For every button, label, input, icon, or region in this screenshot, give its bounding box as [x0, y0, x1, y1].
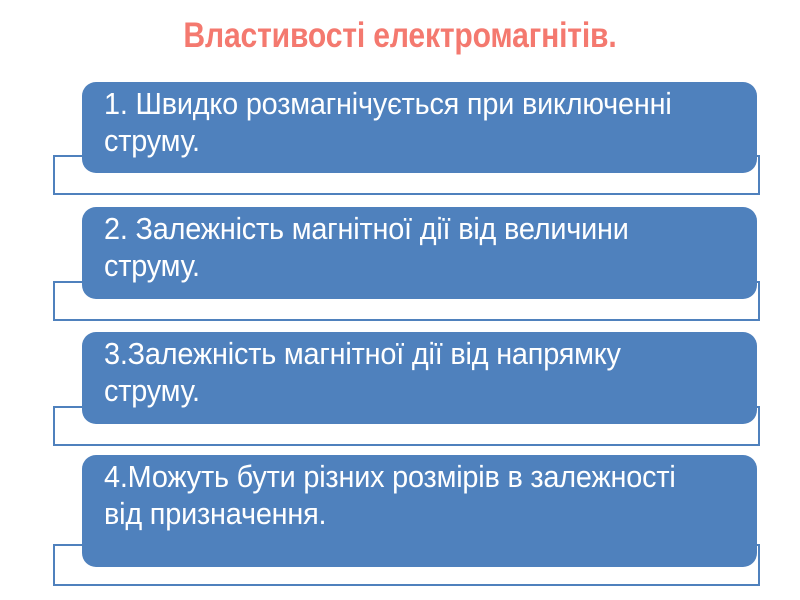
list-item-1-label: 1. Швидко розмагнічується при виключенні… [104, 86, 718, 159]
list-item-2[interactable]: 2. Залежність магнітної дії від величини… [82, 207, 757, 299]
list-item-4[interactable]: 4.Можуть бути різних розмірів в залежнос… [82, 455, 757, 567]
list-item-1[interactable]: 1. Швидко розмагнічується при виключенні… [82, 82, 757, 173]
slide-canvas: Властивості електромагнітів. 1. Швидко р… [0, 0, 800, 600]
list-item-3[interactable]: 3.Залежність магнітної дії від напрямку … [82, 332, 757, 424]
page-title: Властивості електромагнітів. [56, 16, 744, 55]
list-item-3-label: 3.Залежність магнітної дії від напрямку … [104, 336, 718, 409]
list-item-2-label: 2. Залежність магнітної дії від величини… [104, 211, 718, 284]
list-item-4-label: 4.Можуть бути різних розмірів в залежнос… [104, 459, 718, 532]
